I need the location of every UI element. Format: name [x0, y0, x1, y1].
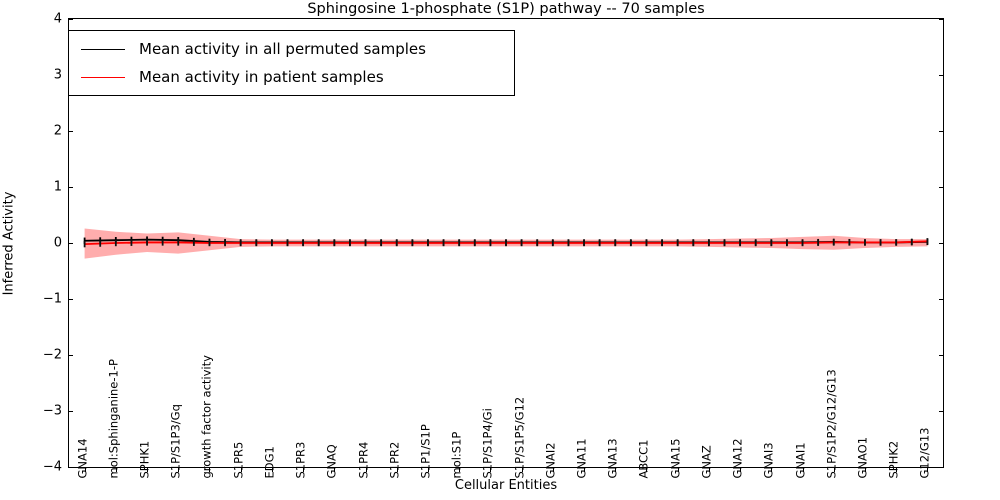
x-axis-tick-label: GNAI1 [795, 442, 807, 478]
y-axis-tick-label: 2 [28, 125, 62, 138]
series-point-marker [365, 240, 367, 246]
x-axis-tick-label: S1P/S1P3/Gq [171, 404, 183, 478]
y-axis-tick-label: −3 [28, 405, 62, 418]
chart-figure: Sphingosine 1-phosphate (S1P) pathway --… [0, 0, 1000, 500]
x-axis-tick-label: GNA15 [670, 438, 682, 478]
x-axis-tick-label: G12/G13 [920, 427, 932, 478]
y-axis-tick-mark [69, 411, 73, 412]
y-axis-tick-mark [939, 131, 943, 132]
y-axis-tick-label: 1 [28, 181, 62, 194]
x-axis-tick-label: GNA13 [608, 438, 620, 478]
series-point-marker [349, 240, 351, 246]
series-point-marker [521, 240, 523, 246]
y-axis-tick-mark [939, 187, 943, 188]
series-point-marker [224, 240, 226, 246]
series-point-marker [568, 240, 570, 246]
series-point-marker [209, 240, 211, 246]
series-point-marker [739, 240, 741, 246]
series-point-marker [708, 240, 710, 246]
series-point-marker [802, 240, 804, 246]
x-axis-tick-label: GNAI2 [545, 442, 557, 478]
legend-entry: Mean activity in all permuted samples [77, 36, 506, 62]
series-point-marker [162, 239, 164, 245]
series-point-marker [646, 240, 648, 246]
series-point-marker [287, 240, 289, 246]
x-axis-tick-label: growth factor activity [202, 355, 214, 478]
series-point-marker [302, 240, 304, 246]
x-axis-tick-label: S1PR4 [358, 441, 370, 478]
x-axis-tick-label: S1P1/S1P [420, 424, 432, 478]
y-axis-tick-mark [69, 187, 73, 188]
y-axis-tick-mark [939, 299, 943, 300]
y-axis-tick-mark [69, 355, 73, 356]
y-axis-tick-label: −2 [28, 349, 62, 362]
series-point-marker [880, 239, 882, 245]
series-point-marker [255, 240, 257, 246]
series-point-marker [817, 240, 819, 246]
x-axis-tick-label: GNAZ [701, 445, 713, 478]
legend-label: Mean activity in patient samples [139, 68, 384, 86]
x-axis-tick-label: GNAO1 [857, 436, 869, 478]
x-axis-tick-label: S1P/S1P4/Gi [483, 408, 495, 478]
x-axis-tick-label: S1PR3 [296, 441, 308, 478]
series-point-marker [115, 240, 117, 246]
series-point-marker [333, 240, 335, 246]
legend-line-patient [81, 77, 125, 78]
series-point-marker [614, 240, 616, 246]
series-point-marker [489, 240, 491, 246]
y-axis-tick-mark [69, 131, 73, 132]
y-axis-tick-label: −4 [28, 461, 62, 474]
x-axis-tick-label: ABCC1 [639, 439, 651, 478]
series-point-marker [926, 238, 928, 244]
series-point-marker [396, 240, 398, 246]
x-axis-tick-label: S1PR5 [233, 441, 245, 478]
x-axis-tick-label: mol:Sphinganine-1-P [108, 359, 120, 478]
x-axis-tick-label: GNAI3 [764, 442, 776, 478]
x-axis-tick-label: GNA11 [577, 438, 589, 478]
legend-entry: Mean activity in patient samples [77, 64, 506, 90]
x-axis-tick-label: SPHK1 [140, 440, 152, 478]
y-axis-title-text: Inferred Activity [2, 191, 17, 295]
series-point-marker [895, 239, 897, 245]
y-axis-tick-labels: −4−3−2−101234 [22, 18, 62, 468]
series-point-marker [630, 240, 632, 246]
series-point-marker [599, 240, 601, 246]
series-point-marker [536, 240, 538, 246]
series-point-marker [505, 240, 507, 246]
y-axis-title: Inferred Activity [0, 18, 18, 468]
y-axis-tick-label: 4 [28, 13, 62, 26]
series-point-marker [583, 240, 585, 246]
x-axis-tick-label: GNAQ [327, 444, 339, 478]
x-axis-tick-labels: GNA14mol:Sphinganine-1-PSPHK1S1P/S1P3/Gq… [68, 468, 944, 478]
series-point-marker [724, 240, 726, 246]
x-axis-tick-label: EDG1 [264, 446, 276, 478]
page-title: Sphingosine 1-phosphate (S1P) pathway --… [68, 0, 944, 18]
series-point-marker [770, 240, 772, 246]
y-axis-tick-mark [69, 299, 73, 300]
series-point-marker [146, 239, 148, 245]
series-point-marker [318, 240, 320, 246]
x-axis-tick-label: S1PR2 [389, 441, 401, 478]
series-point-marker [427, 240, 429, 246]
series-point-marker [864, 239, 866, 245]
x-axis-tick-label: SPHK2 [889, 440, 901, 478]
series-point-marker [131, 240, 133, 246]
legend-line-permuted [81, 49, 125, 50]
x-axis-tick-label: GNA14 [77, 438, 89, 478]
y-axis-tick-mark [939, 355, 943, 356]
series-point-marker [911, 239, 913, 245]
series-point-marker [458, 240, 460, 246]
series-point-marker [661, 240, 663, 246]
x-axis-tick-label: S1P/S1P2/G12/G13 [826, 369, 838, 478]
y-axis-tick-label: 3 [28, 69, 62, 82]
series-point-marker [240, 240, 242, 246]
series-point-marker [193, 240, 195, 246]
x-axis-tick-label: mol:S1P [452, 431, 464, 478]
series-point-marker [848, 239, 850, 245]
legend-label: Mean activity in all permuted samples [139, 40, 426, 58]
series-point-marker [552, 240, 554, 246]
chart-legend: Mean activity in all permuted samplesMea… [68, 30, 515, 96]
y-axis-tick-label: −1 [28, 293, 62, 306]
series-point-marker [380, 240, 382, 246]
y-axis-tick-mark [939, 75, 943, 76]
series-point-marker [84, 241, 86, 247]
series-point-marker [755, 240, 757, 246]
x-axis-tick-label: GNA12 [733, 438, 745, 478]
series-point-marker [271, 240, 273, 246]
series-point-marker [833, 239, 835, 245]
series-point-marker [443, 240, 445, 246]
series-point-marker [411, 240, 413, 246]
y-axis-tick-mark [939, 243, 943, 244]
series-point-marker [99, 240, 101, 246]
y-axis-tick-mark [69, 19, 73, 20]
y-axis-tick-mark [939, 411, 943, 412]
series-point-marker [177, 239, 179, 245]
series-point-marker [474, 240, 476, 246]
y-axis-tick-mark [939, 19, 943, 20]
series-point-marker [677, 240, 679, 246]
y-axis-tick-label: 0 [28, 237, 62, 250]
x-axis-tick-label: S1P/S1P5/G12 [514, 396, 526, 478]
y-axis-tick-mark [69, 243, 73, 244]
x-axis-title: Cellular Entities [68, 478, 944, 498]
series-point-marker [692, 240, 694, 246]
series-point-marker [786, 240, 788, 246]
